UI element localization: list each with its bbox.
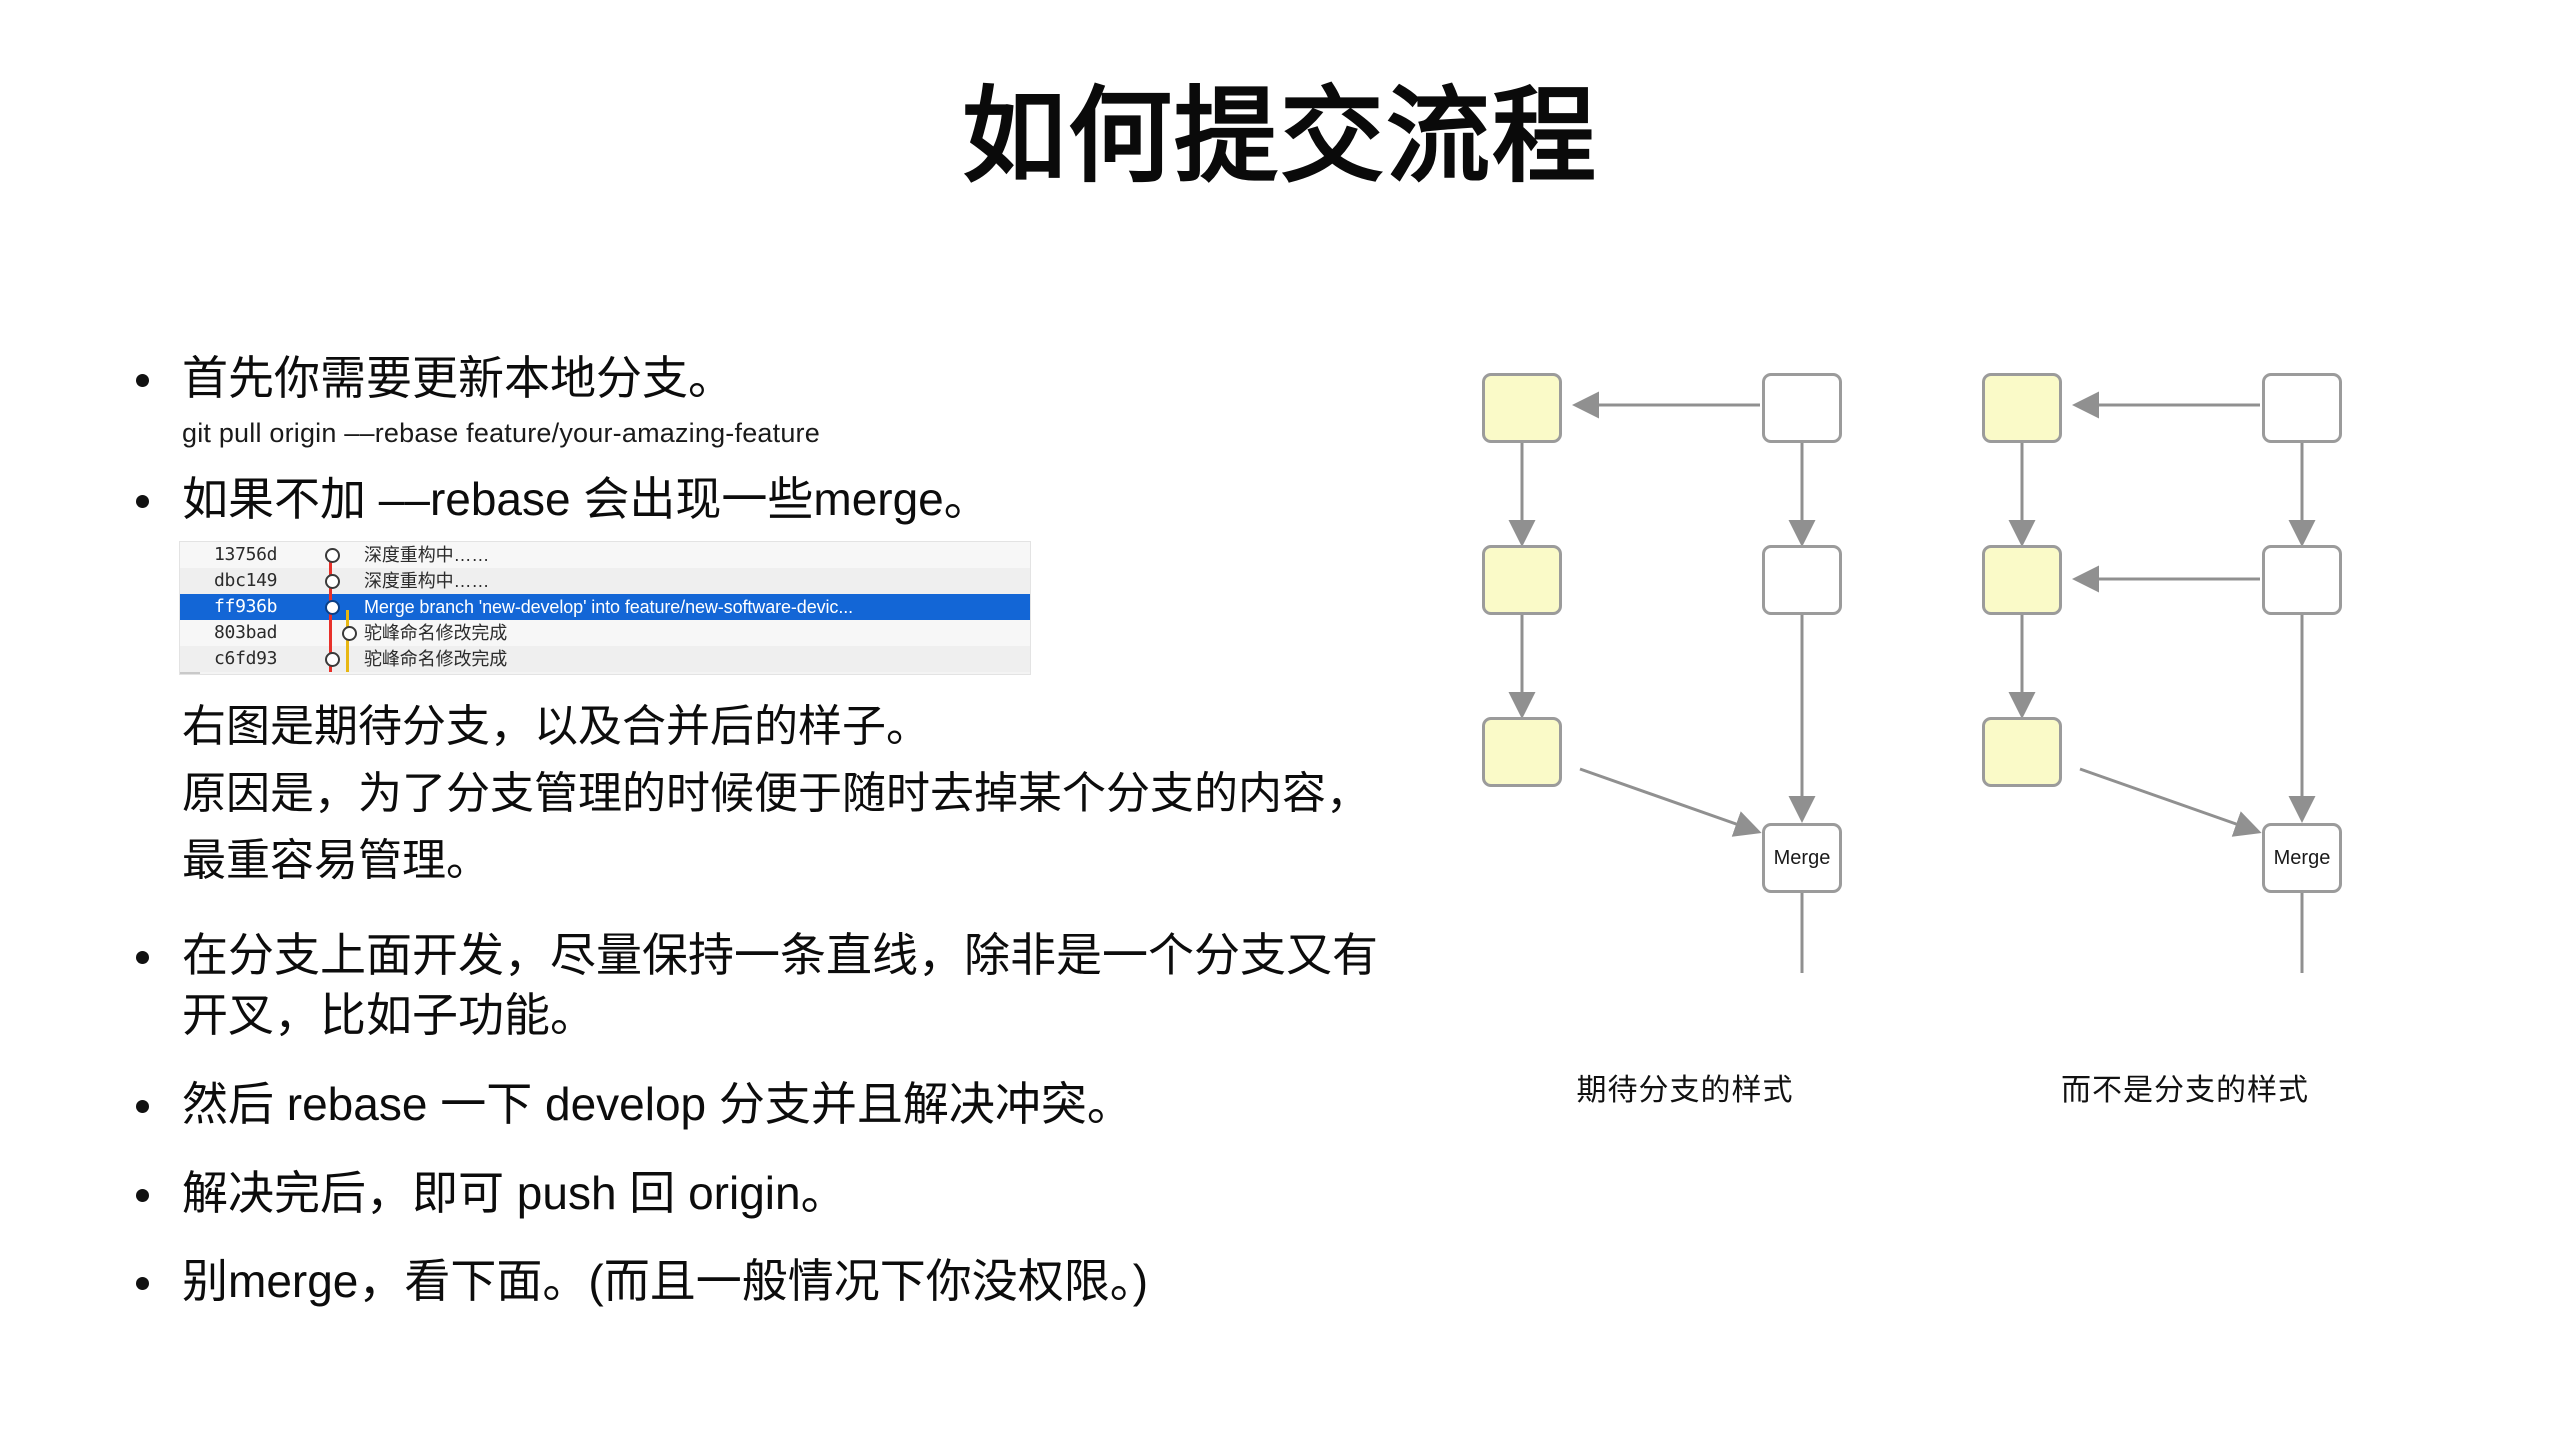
spacer xyxy=(128,1149,1388,1163)
commit-hash: 803bad xyxy=(214,620,318,646)
node-feature-commit-1 xyxy=(1482,373,1562,443)
node-develop-commit-1 xyxy=(2262,373,2342,443)
paragraph-line-2: 原因是，为了分支管理的时候便于随时去掉某个分支的内容，最重容易管理。 xyxy=(182,761,1388,895)
commit-graph-icon xyxy=(318,620,364,646)
branch-diagrams: Merge 期待分支的样式 xyxy=(1440,365,2450,1155)
node-develop-commit-1 xyxy=(1762,373,1842,443)
commit-graph-icon xyxy=(318,646,364,672)
bullet-item-push-origin: 解决完后，即可 push 回 origin。 xyxy=(128,1163,1388,1224)
explanation-paragraph: 右图是期待分支，以及合并后的样子。 原因是，为了分支管理的时候便于随时去掉某个分… xyxy=(128,694,1388,895)
diagram-caption-expected: 期待分支的样式 xyxy=(1470,1065,1900,1109)
node-develop-commit-2 xyxy=(2262,545,2342,615)
content-column: 首先你需要更新本地分支。 git pull origin ––rebase fe… xyxy=(128,348,1388,1326)
node-feature-commit-2 xyxy=(1482,545,1562,615)
git-log-screenshot: 13756d 深度重构中…… dbc149 深度重构中…… ff936b xyxy=(180,542,1030,674)
table-row[interactable]: 13756d 深度重构中…… xyxy=(180,542,1030,568)
table-row[interactable]: 803bad 驼峰命名修改完成 xyxy=(180,620,1030,646)
table-row[interactable]: c6fd93 驼峰命名修改完成 xyxy=(180,646,1030,672)
commit-message: 驼峰命名修改完成 xyxy=(364,620,507,646)
diagram-caption-unwanted: 而不是分支的样式 xyxy=(1970,1065,2400,1109)
bullet-item-rebase-develop: 然后 rebase 一下 develop 分支并且解决冲突。 xyxy=(128,1074,1388,1135)
node-feature-commit-2 xyxy=(1982,545,2062,615)
table-row-selected[interactable]: ff936b Merge branch 'new-develop' into f… xyxy=(180,594,1030,620)
node-develop-commit-2 xyxy=(1762,545,1842,615)
commit-graph-icon xyxy=(318,594,364,620)
node-merge-commit: Merge xyxy=(1762,823,1842,893)
spacer xyxy=(128,1060,1388,1074)
diagram-unwanted-branch: Merge 而不是分支的样式 xyxy=(1970,365,2400,1155)
commit-graph-icon xyxy=(318,568,364,594)
bullet-item-update-branch: 首先你需要更新本地分支。 xyxy=(128,348,1388,409)
commit-message: Merge branch 'new-develop' into feature/… xyxy=(364,594,853,620)
diagram-expected-branch: Merge 期待分支的样式 xyxy=(1470,365,1900,1155)
node-feature-commit-3 xyxy=(1982,717,2062,787)
node-merge-commit: Merge xyxy=(2262,823,2342,893)
spacer xyxy=(128,1237,1388,1251)
commit-message: 深度重构中…… xyxy=(364,568,489,594)
node-feature-commit-1 xyxy=(1982,373,2062,443)
diagram-unwanted-arrows xyxy=(1970,365,2400,1065)
commit-message: 驼峰命名修改完成 xyxy=(364,646,507,672)
commit-hash: ff936b xyxy=(214,594,318,620)
commit-hash: c6fd93 xyxy=(214,646,318,672)
bullet-item-rebase-merge: 如果不加 ––rebase 会出现一些merge。 xyxy=(128,469,1388,530)
git-pull-command: git pull origin ––rebase feature/your-am… xyxy=(128,415,1388,451)
commit-graph-icon xyxy=(318,542,364,568)
commit-hash: 13756d xyxy=(214,542,318,568)
table-row[interactable]: dbc149 深度重构中…… xyxy=(180,568,1030,594)
merge-label: Merge xyxy=(2274,848,2331,868)
commit-message: 深度重构中…… xyxy=(364,542,489,568)
diagram-expected-arrows xyxy=(1470,365,1900,1065)
slide-root: 如何提交流程 首先你需要更新本地分支。 git pull origin ––re… xyxy=(0,0,2560,1440)
bullet-item-linear-history: 在分支上面开发，尽量保持一条直线，除非是一个分支又有开叉，比如子功能。 xyxy=(128,925,1388,1046)
merge-label: Merge xyxy=(1774,848,1831,868)
commit-hash: dbc149 xyxy=(214,568,318,594)
node-feature-commit-3 xyxy=(1482,717,1562,787)
bullet-item-no-merge: 别merge，看下面。(而且一般情况下你没权限。) xyxy=(128,1251,1388,1312)
page-title: 如何提交流程 xyxy=(0,78,2560,198)
paragraph-line-1: 右图是期待分支，以及合并后的样子。 xyxy=(182,694,1388,761)
